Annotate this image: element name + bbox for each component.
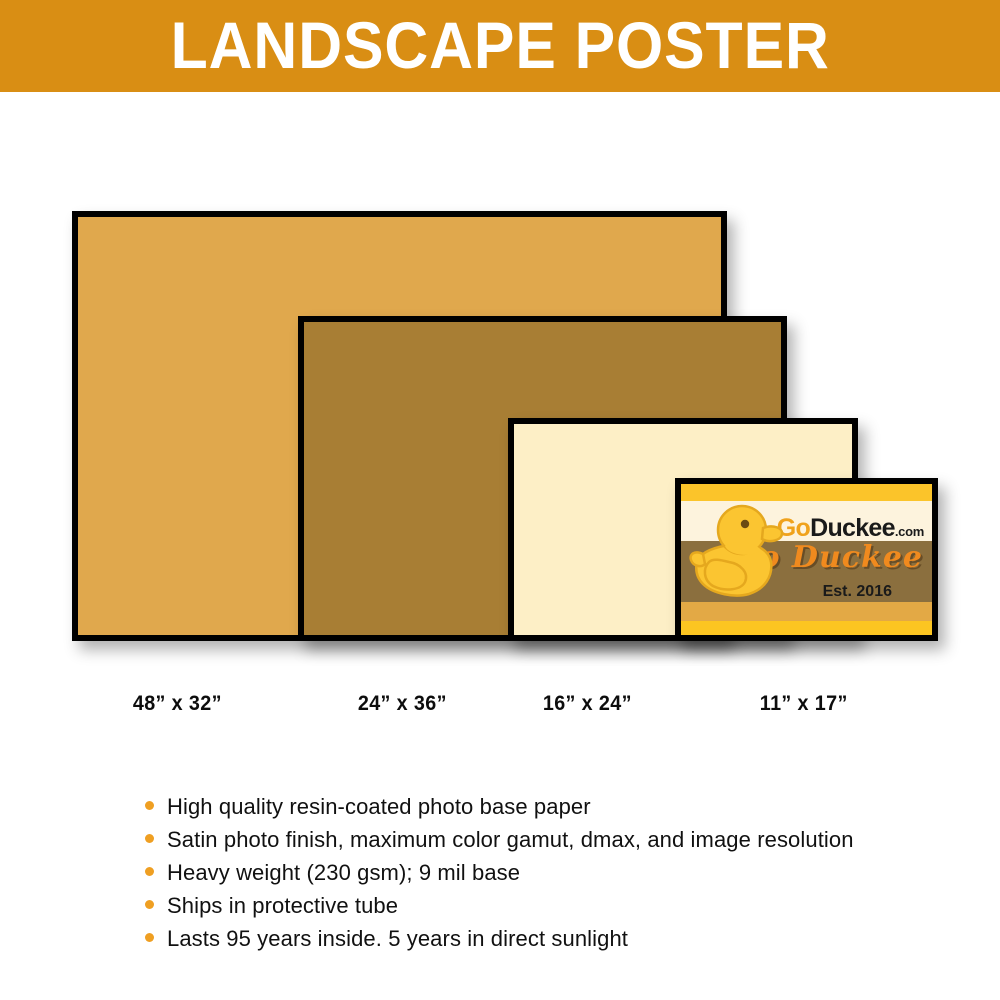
- list-item: Ships in protective tube: [145, 891, 975, 920]
- size-label-16x24: 16” x 24”: [543, 692, 632, 716]
- bullet-dot-icon: [145, 867, 154, 876]
- size-label-row: 48” x 32” 24” x 36” 16” x 24” 11” x 17”: [0, 692, 1000, 732]
- logo-band-yellow: [681, 621, 932, 635]
- logo-band-top: [681, 484, 932, 501]
- goduckee-logo: GoDuckee.com Go Duckee Est. 2016: [681, 484, 932, 635]
- feature-text: Lasts 95 years inside. 5 years in direct…: [167, 924, 628, 953]
- feature-text: High quality resin-coated photo base pap…: [167, 792, 591, 821]
- bullet-dot-icon: [145, 834, 154, 843]
- size-label-11x17: 11” x 17”: [760, 692, 848, 716]
- size-label-48x32: 48” x 32”: [133, 692, 222, 716]
- logo-wordmark: GoDuckee.com: [777, 516, 924, 541]
- header-banner: LANDSCAPE POSTER: [0, 0, 1000, 92]
- feature-list: High quality resin-coated photo base pap…: [145, 792, 975, 957]
- logo-wordmark-com: .com: [895, 524, 924, 539]
- logo-wordmark-go: Go: [777, 514, 810, 542]
- bullet-dot-icon: [145, 801, 154, 810]
- list-item: Satin photo finish, maximum color gamut,…: [145, 825, 975, 854]
- bullet-dot-icon: [145, 900, 154, 909]
- logo-established-text: Est. 2016: [823, 584, 892, 600]
- logo-wordmark-duckee: Duckee: [810, 514, 895, 542]
- logo-band-cream: GoDuckee.com: [681, 501, 932, 542]
- list-item: Lasts 95 years inside. 5 years in direct…: [145, 924, 975, 953]
- logo-script-text: Go Duckee: [733, 543, 923, 573]
- bullet-dot-icon: [145, 933, 154, 942]
- logo-band-brown: Go Duckee Est. 2016: [681, 541, 932, 601]
- list-item: Heavy weight (230 gsm); 9 mil base: [145, 858, 975, 887]
- poster-swatch-11x17: GoDuckee.com Go Duckee Est. 2016: [675, 478, 938, 641]
- logo-band-gold: [681, 602, 932, 622]
- feature-text: Heavy weight (230 gsm); 9 mil base: [167, 858, 520, 887]
- feature-text: Satin photo finish, maximum color gamut,…: [167, 825, 854, 854]
- feature-text: Ships in protective tube: [167, 891, 398, 920]
- list-item: High quality resin-coated photo base pap…: [145, 792, 975, 821]
- size-label-24x36: 24” x 36”: [358, 692, 447, 716]
- page-title: LANDSCAPE POSTER: [170, 12, 829, 78]
- poster-size-comparison: GoDuckee.com Go Duckee Est. 2016: [0, 92, 1000, 692]
